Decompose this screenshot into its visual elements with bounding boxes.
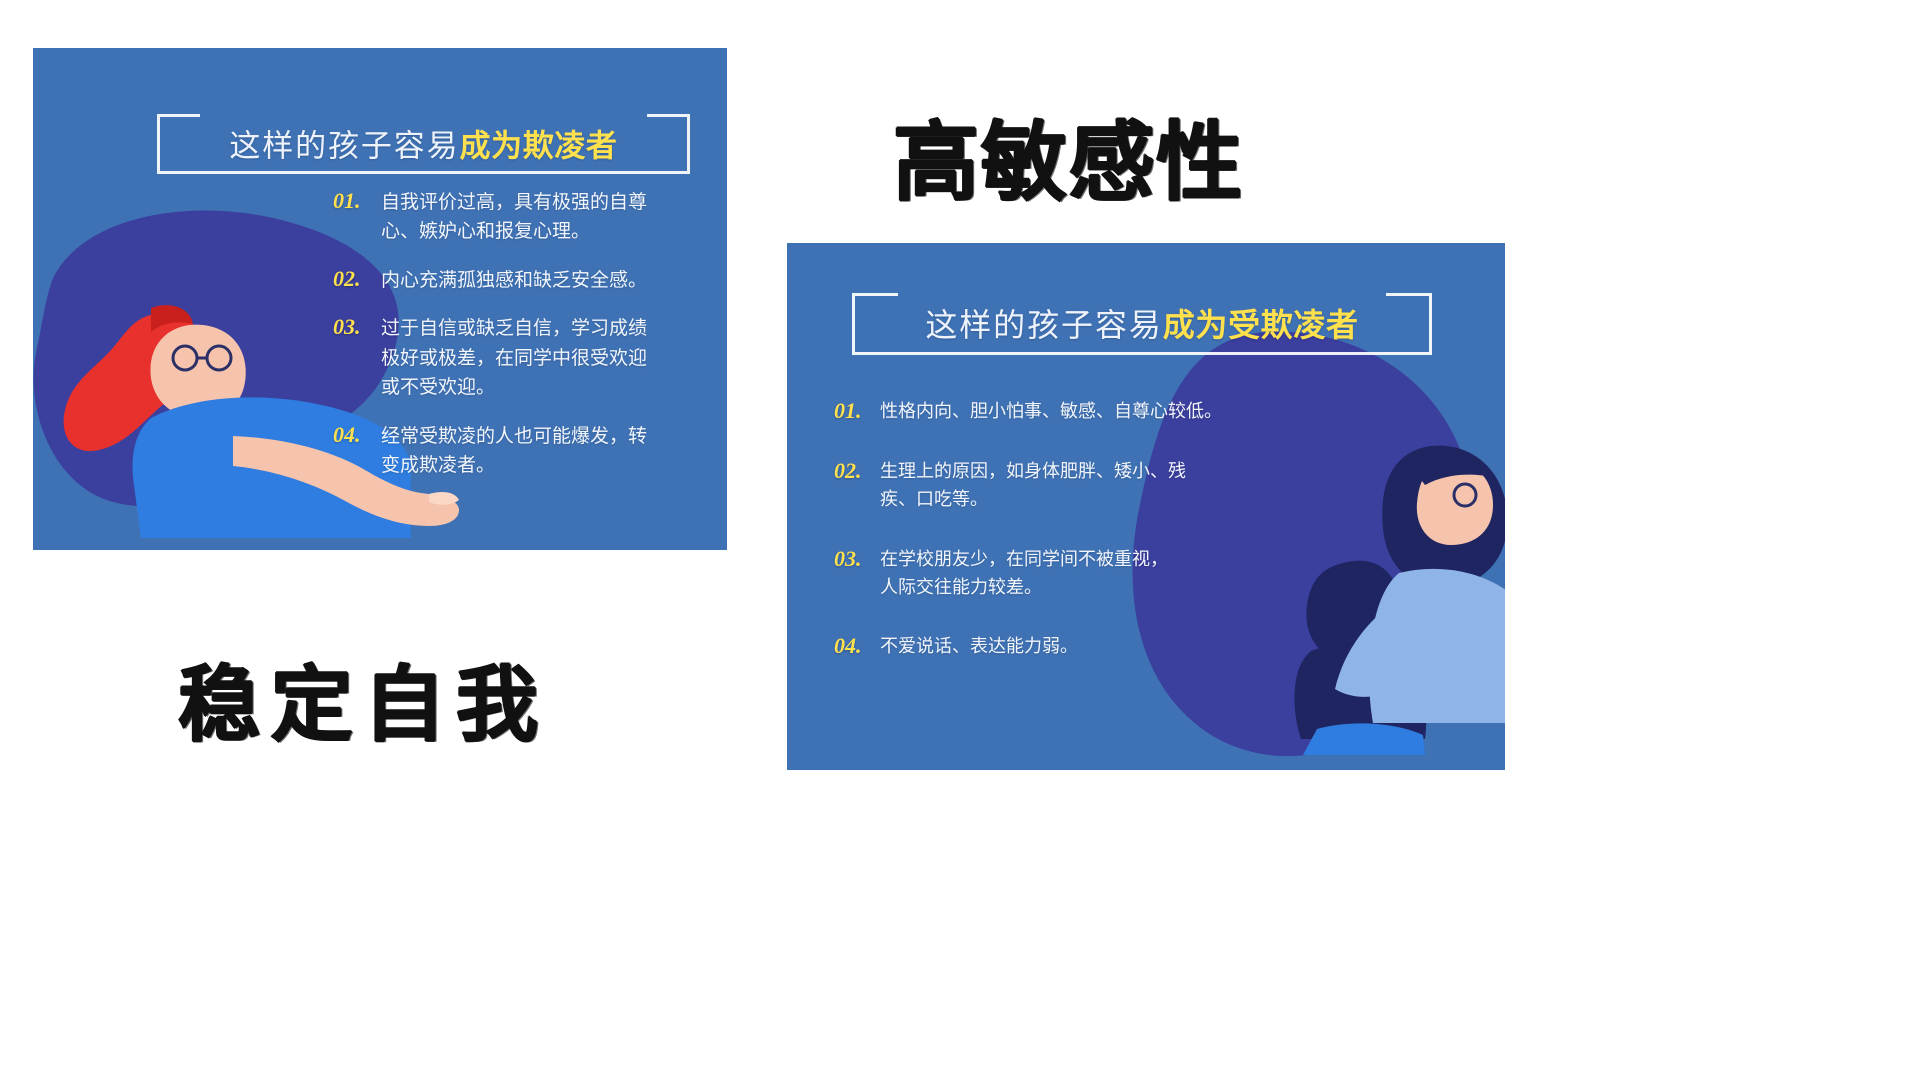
title-top-notch (200, 111, 648, 117)
trait-item-number: 04. (834, 633, 880, 659)
victim-traits-card: 这样的孩子容易成为受欺凌者 01.性格内向、胆小怕事、敏感、自尊心较低。02.生… (787, 243, 1505, 770)
trait-item: 02.内心充满孤独感和缺乏安全感。 (333, 266, 727, 295)
trait-item-line: 人际交往能力较差。 (880, 574, 1168, 602)
card1-title-highlight: 成为欺凌者 (459, 129, 617, 164)
trait-item-text: 经常受欺凌的人也可能爆发，转变成欺凌者。 (381, 422, 647, 481)
trait-item: 01.性格内向、胆小怕事、敏感、自尊心较低。 (834, 398, 1264, 426)
title-top-notch (898, 290, 1385, 296)
trait-item-text: 生理上的原因，如身体肥胖、矮小、残疾、口吃等。 (880, 458, 1186, 514)
trait-item-number: 02. (834, 458, 880, 484)
woman-figure-shape (1307, 433, 1505, 723)
trait-item-line: 心、嫉妒心和报复心理。 (381, 217, 647, 246)
trait-item: 01.自我评价过高，具有极强的自尊心、嫉妒心和报复心理。 (333, 188, 727, 247)
card2-title: 这样的孩子容易成为受欺凌者 (852, 300, 1432, 346)
trait-item: 03.过于自信或缺乏自信，学习成绩极好或极差，在同学中很受欢迎或不受欢迎。 (333, 314, 727, 402)
trait-item-line: 不爱说话、表达能力弱。 (880, 633, 1078, 661)
trait-item-text: 在学校朋友少，在同学间不被重视，人际交往能力较差。 (880, 546, 1168, 602)
trait-item-line: 或不受欢迎。 (381, 373, 647, 402)
trait-item-text: 自我评价过高，具有极强的自尊心、嫉妒心和报复心理。 (381, 188, 647, 247)
trait-item: 04.不爱说话、表达能力弱。 (834, 633, 1264, 661)
trait-item-line: 在学校朋友少，在同学间不被重视， (880, 546, 1168, 574)
trait-item-number: 02. (333, 266, 381, 292)
card2-title-frame: 这样的孩子容易成为受欺凌者 (852, 293, 1432, 355)
heading-stable-self: 稳定自我 (178, 638, 549, 757)
card1-trait-list: 01.自我评价过高，具有极强的自尊心、嫉妒心和报复心理。02.内心充满孤独感和缺… (333, 188, 727, 500)
trait-item: 04.经常受欺凌的人也可能爆发，转变成欺凌者。 (333, 422, 727, 481)
trait-item-line: 经常受欺凌的人也可能爆发，转 (381, 422, 647, 451)
trait-item-line: 过于自信或缺乏自信，学习成绩 (381, 314, 647, 343)
trait-item-line: 极好或极差，在同学中很受欢迎 (381, 344, 647, 373)
trait-item-line: 疾、口吃等。 (880, 486, 1186, 514)
trait-item-number: 03. (333, 314, 381, 340)
trait-item-line: 性格内向、胆小怕事、敏感、自尊心较低。 (880, 398, 1222, 426)
trait-item-line: 自我评价过高，具有极强的自尊 (381, 188, 647, 217)
card1-title: 这样的孩子容易成为欺凌者 (157, 121, 690, 166)
card1-title-frame: 这样的孩子容易成为欺凌者 (157, 114, 690, 174)
trait-item-number: 03. (834, 546, 880, 572)
slide-canvas: 这样的孩子容易成为欺凌者 01.自我评价过高，具有极强的自尊心、嫉妒心和报复心理… (0, 0, 1920, 1080)
trait-item-number: 04. (333, 422, 381, 448)
card2-trait-list: 01.性格内向、胆小怕事、敏感、自尊心较低。02.生理上的原因，如身体肥胖、矮小… (834, 398, 1264, 693)
trait-item: 02.生理上的原因，如身体肥胖、矮小、残疾、口吃等。 (834, 458, 1264, 514)
heading-high-sensitivity: 高敏感性 (893, 92, 1244, 217)
card1-title-plain: 这样的孩子容易 (229, 129, 459, 164)
card2-title-highlight: 成为受欺凌者 (1163, 307, 1359, 343)
trait-item: 03.在学校朋友少，在同学间不被重视，人际交往能力较差。 (834, 546, 1264, 602)
trait-item-text: 过于自信或缺乏自信，学习成绩极好或极差，在同学中很受欢迎或不受欢迎。 (381, 314, 647, 402)
bully-traits-card: 这样的孩子容易成为欺凌者 01.自我评价过高，具有极强的自尊心、嫉妒心和报复心理… (33, 48, 727, 550)
trait-item-text: 不爱说话、表达能力弱。 (880, 633, 1078, 661)
trait-item-text: 内心充满孤独感和缺乏安全感。 (381, 266, 647, 295)
trait-item-line: 内心充满孤独感和缺乏安全感。 (381, 266, 647, 295)
trait-item-text: 性格内向、胆小怕事、敏感、自尊心较低。 (880, 398, 1222, 426)
trait-item-number: 01. (333, 188, 381, 214)
trait-item-line: 变成欺凌者。 (381, 451, 647, 480)
trait-item-line: 生理上的原因，如身体肥胖、矮小、残 (880, 458, 1186, 486)
trait-item-number: 01. (834, 398, 880, 424)
card2-title-plain: 这样的孩子容易 (925, 307, 1162, 343)
